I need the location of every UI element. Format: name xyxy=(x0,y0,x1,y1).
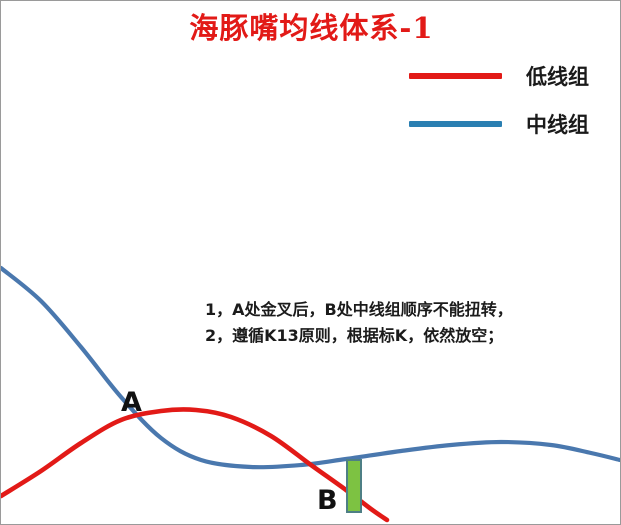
point-label-a: A xyxy=(121,389,142,416)
green-candle-marker xyxy=(346,459,362,513)
chart-canvas: 海豚嘴均线体系-1 低线组 中线组 1，A处金叉后，B处中线组顺序不能扭转， 2… xyxy=(0,0,621,525)
point-label-b: B xyxy=(317,487,338,514)
curve-plot xyxy=(1,1,621,525)
